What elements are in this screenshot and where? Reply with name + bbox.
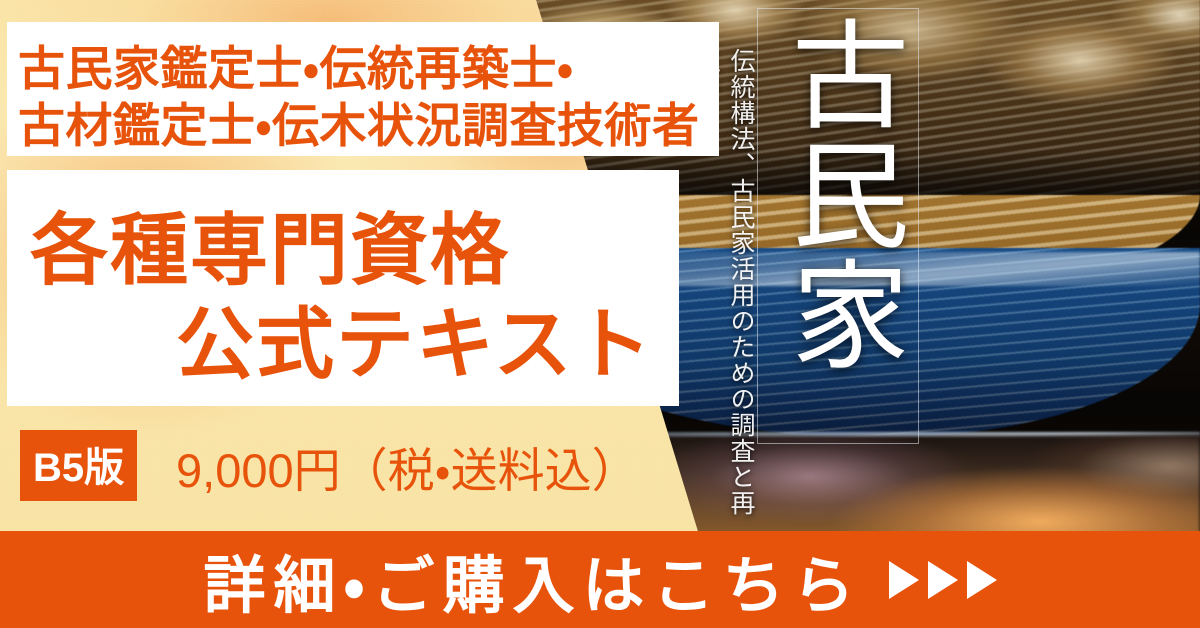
cta-arrows [889,561,997,599]
format-badge: B5版 [20,430,137,501]
play-arrow-icon [928,561,958,599]
main-title-line-2: 公式テキスト [176,282,654,394]
cover-title-text: 古民家 [766,14,908,374]
cta-label: 詳細・ご購入はこちら [203,535,862,625]
cta-bar[interactable]: 詳細・ご購入はこちら [0,531,1200,628]
price-text: 9,000円（税・送料込） [176,432,639,501]
headline-line-2: 古材鑑定士・伝木状況調査技術者 [18,87,699,156]
promo-banner: 古民家 伝統構法、古民家活用のための調査と再生の 古民家鑑定士・伝統再築士・ 古… [0,0,1200,628]
play-arrow-icon [967,561,997,599]
play-arrow-icon [889,561,919,599]
